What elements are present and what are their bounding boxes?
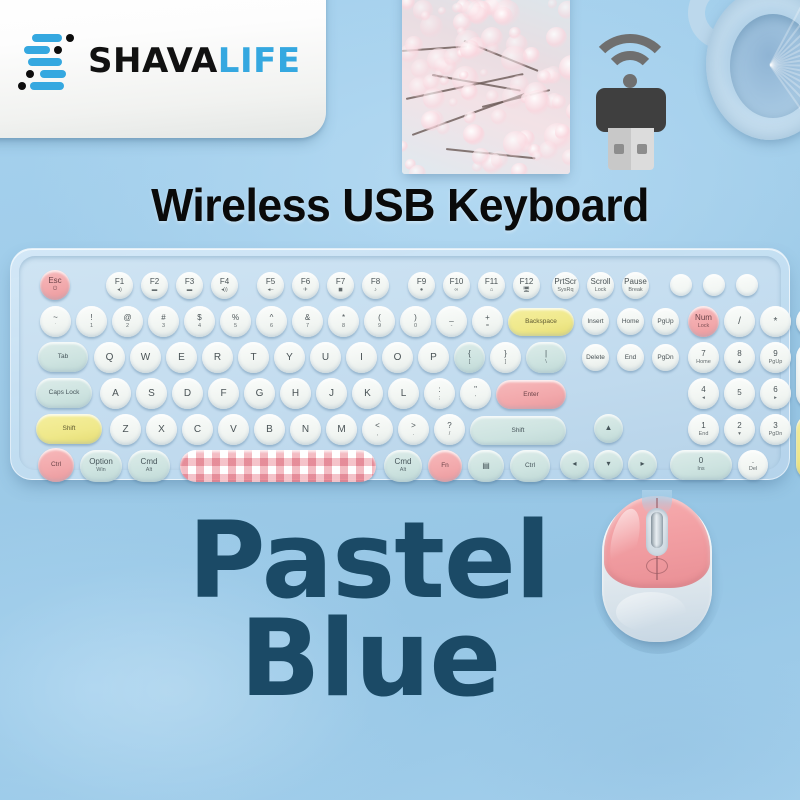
- key-label-primary: |: [545, 350, 547, 359]
- spacebar[interactable]: [180, 450, 376, 482]
- key-label-primary: #: [161, 314, 165, 323]
- key-label-primary: F12: [520, 278, 534, 287]
- key-blank[interactable]: *: [760, 306, 791, 337]
- key-prtscr[interactable]: PrtScrSysRq: [552, 272, 579, 299]
- key-label-primary: Cmd: [395, 458, 412, 467]
- blossom: [558, 1, 570, 20]
- key-label-secondary: ✈: [303, 287, 308, 293]
- key-label-secondary: Ins: [697, 466, 704, 472]
- key-b[interactable]: B: [254, 414, 285, 445]
- blossom: [539, 141, 558, 160]
- key-l[interactable]: L: [388, 378, 419, 409]
- key-6[interactable]: 6▸: [760, 378, 791, 409]
- key-blank[interactable]: ▸: [628, 450, 657, 479]
- usb-body: [596, 88, 666, 132]
- key-0[interactable]: 0Ins: [670, 450, 732, 480]
- key-label-secondary: 1: [90, 323, 93, 329]
- key-label-primary: (: [378, 314, 381, 323]
- key-label-secondary: ◂): [117, 287, 122, 293]
- key-label-secondary: Lock: [595, 287, 607, 293]
- blossom: [463, 124, 484, 145]
- key-label-primary: _: [449, 314, 453, 323]
- key-ctrl[interactable]: Ctrl: [38, 448, 74, 482]
- key-label-primary: Delete: [586, 354, 605, 361]
- key-label-primary: <: [375, 422, 380, 431]
- key-label-secondary: ●: [420, 287, 423, 293]
- key-blank[interactable]: ◂: [560, 450, 589, 479]
- key-h[interactable]: H: [280, 378, 311, 409]
- key-f2[interactable]: F2▬: [141, 272, 168, 299]
- key-blank[interactable]: %5: [220, 306, 251, 337]
- key-label-secondary: 8: [342, 323, 345, 329]
- key-label-secondary: 6: [270, 323, 273, 329]
- key-label-primary: Cmd: [141, 458, 158, 467]
- key-label-secondary: 0: [414, 323, 417, 329]
- key-label-primary: Y: [286, 352, 293, 363]
- key-blank[interactable]: &7: [292, 306, 323, 337]
- key-f6[interactable]: F6✈: [292, 272, 319, 299]
- key-label-primary: }: [504, 350, 507, 359]
- key-s[interactable]: S: [136, 378, 167, 409]
- key-9[interactable]: 9PgUp: [760, 342, 791, 373]
- key-label-primary: D: [184, 388, 191, 399]
- key-2[interactable]: 2▾: [724, 414, 755, 445]
- key-label-secondary: 5: [234, 323, 237, 329]
- key-label-primary: C: [194, 424, 201, 435]
- key-f11[interactable]: F11⌂: [478, 272, 505, 299]
- key-label-primary: Pause: [624, 278, 647, 287]
- key-label-primary: 5: [737, 389, 741, 398]
- key-label-primary: F5: [266, 278, 275, 287]
- key-label-primary: F8: [371, 278, 380, 287]
- shavalife-bars-logo: [18, 32, 74, 90]
- key-label-secondary: 🖥: [523, 287, 530, 293]
- key-label-primary: Backspace: [525, 318, 557, 325]
- key-cmd[interactable]: CmdAlt: [128, 450, 170, 482]
- logo-dot-4: [26, 70, 34, 78]
- blossom: [552, 95, 566, 109]
- key-label-primary: PgUp: [657, 318, 673, 325]
- blossom: [452, 3, 462, 13]
- key-label-secondary: ▸: [774, 395, 777, 401]
- blossom: [409, 165, 426, 174]
- key-label-secondary: 3: [162, 323, 165, 329]
- key-label-secondary: /: [449, 431, 451, 437]
- key-label-primary: U: [322, 352, 329, 363]
- brand-logo: SHAVALIFE: [18, 32, 301, 90]
- key-enter[interactable]: Enter: [496, 380, 566, 409]
- key-label-primary: M: [337, 424, 345, 435]
- key-label-secondary: SysRq: [557, 287, 573, 293]
- key-blank[interactable]: }]: [490, 342, 521, 373]
- key-d[interactable]: D: [172, 378, 203, 409]
- key-label-primary: End: [625, 354, 637, 361]
- key-pgdn[interactable]: PgDn: [652, 344, 679, 371]
- blossom: [555, 124, 570, 140]
- key-label-primary: ▲: [605, 424, 613, 433]
- usb-pin-right: [637, 144, 647, 154]
- key-label-primary: F2: [150, 278, 159, 287]
- key-label-secondary: ;: [439, 395, 441, 401]
- key-v[interactable]: V: [218, 414, 249, 445]
- key-label-primary: L: [401, 388, 407, 399]
- key-f3[interactable]: F3▬: [176, 272, 203, 299]
- key-blank[interactable]: ^6: [256, 306, 287, 337]
- key-label-primary: H: [292, 388, 299, 399]
- key-label-primary: F4: [220, 278, 229, 287]
- key-1[interactable]: 1End: [688, 414, 719, 445]
- key-label-secondary: ◂: [702, 395, 705, 401]
- key-blank[interactable]: @2: [112, 306, 143, 337]
- key-blank[interactable]: [670, 274, 692, 296]
- key-y[interactable]: Y: [274, 342, 305, 373]
- key-label-secondary: .: [413, 431, 415, 437]
- key-label-secondary: Win: [96, 467, 105, 473]
- key-label-secondary: =: [486, 323, 489, 329]
- key-label-primary: PgDn: [657, 354, 673, 361]
- key-blank[interactable]: ▲: [594, 414, 623, 443]
- numpad-plus[interactable]: +: [796, 342, 800, 409]
- key-4[interactable]: 4◂: [688, 378, 719, 409]
- key-label-primary: .: [752, 457, 754, 466]
- key-blank[interactable]: .Del: [738, 450, 768, 480]
- key-label-primary: Tab: [58, 353, 68, 360]
- blossom: [464, 112, 476, 124]
- logo-bar-5: [30, 82, 64, 90]
- key-label-primary: ◂: [572, 460, 576, 469]
- key-blank[interactable]: )0: [400, 306, 431, 337]
- key-ctrl[interactable]: Ctrl: [510, 450, 550, 482]
- brand-name-part1: SHAVA: [88, 41, 218, 81]
- blossom: [501, 46, 528, 73]
- key-label-primary: B: [266, 424, 273, 435]
- key-label-primary: V: [230, 424, 237, 435]
- key-z[interactable]: Z: [110, 414, 141, 445]
- blossom: [503, 131, 529, 157]
- blossom: [562, 149, 570, 166]
- key-label-primary: Fn: [441, 462, 449, 469]
- key-label-secondary: PgDn: [769, 431, 783, 437]
- key-label-primary: 7: [701, 350, 705, 359]
- key-x[interactable]: X: [146, 414, 177, 445]
- keyboard-keys: Esc⏻F1◂)F2▬F3▬F4◂))F5◂–F6✈F7◼F8♪F9●F10∞F…: [10, 248, 790, 480]
- key-label-secondary: ▬: [152, 287, 158, 293]
- key-7[interactable]: 7Home: [688, 342, 719, 373]
- key-label-primary: G: [256, 388, 264, 399]
- key-label-secondary: ◂–: [268, 287, 274, 293]
- blossom: [546, 27, 567, 48]
- color-label-line1: Pastel: [0, 512, 800, 610]
- key-label-primary: F10: [450, 278, 464, 287]
- key-label-primary: F1: [115, 278, 124, 287]
- key-t[interactable]: T: [238, 342, 269, 373]
- key-label-primary: P: [430, 352, 437, 363]
- key-f1[interactable]: F1◂): [106, 272, 133, 299]
- key-label-secondary: Del: [749, 466, 757, 472]
- key-label-primary: ?: [447, 422, 451, 431]
- key-label-secondary: ⏻: [53, 286, 57, 292]
- key-a[interactable]: A: [100, 378, 131, 409]
- key-shift[interactable]: Shift: [470, 416, 566, 445]
- key-g[interactable]: G: [244, 378, 275, 409]
- key-label-primary: *: [774, 316, 778, 327]
- key-label-primary: F9: [417, 278, 426, 287]
- key-blank[interactable]: $4: [184, 306, 215, 337]
- key-f[interactable]: F: [208, 378, 239, 409]
- key-blank[interactable]: *8: [328, 306, 359, 337]
- key-label-primary: 9: [773, 350, 777, 359]
- key-label-primary: >: [411, 422, 416, 431]
- key-f7[interactable]: F7◼: [327, 272, 354, 299]
- key-5[interactable]: 5: [724, 378, 755, 409]
- key-label-primary: Scroll: [590, 278, 610, 287]
- key-label-primary: A: [112, 388, 119, 399]
- key-label-primary: F11: [485, 278, 498, 287]
- key-label-primary: ): [414, 314, 417, 323]
- key-blank[interactable]: +=: [472, 306, 503, 337]
- key-f9[interactable]: F9●: [408, 272, 435, 299]
- key-label-primary: ▤: [482, 462, 490, 471]
- key-label-secondary: -: [451, 323, 453, 329]
- key-label-secondary: ∞: [455, 287, 459, 293]
- key-blank[interactable]: "': [460, 378, 491, 409]
- key-label-primary: Option: [89, 458, 113, 467]
- key-label-primary: F7: [336, 278, 345, 287]
- page-title: Wireless USB Keyboard: [12, 178, 788, 232]
- key-blank[interactable]: !1: [76, 306, 107, 337]
- key-end[interactable]: End: [617, 344, 644, 371]
- key-tab[interactable]: Tab: [38, 342, 88, 372]
- blossom: [421, 111, 441, 131]
- key-blank[interactable]: [703, 274, 725, 296]
- key-c[interactable]: C: [182, 414, 213, 445]
- usb-metal-connector: [608, 128, 654, 170]
- key-label-secondary: Lock: [698, 323, 710, 329]
- key-num[interactable]: NumLock: [688, 306, 719, 337]
- key-q[interactable]: Q: [94, 342, 125, 373]
- logo-dot-5: [18, 82, 26, 90]
- key-label-secondary: Alt: [146, 467, 152, 473]
- key-blank[interactable]: _-: [436, 306, 467, 337]
- key-blank[interactable]: ▤: [468, 450, 504, 482]
- key-f12[interactable]: F12🖥: [513, 272, 540, 299]
- logo-bar-4: [40, 70, 66, 78]
- key-shift[interactable]: Shift: [36, 414, 102, 444]
- key-label-primary: X: [158, 424, 165, 435]
- key-label-primary: W: [141, 352, 150, 363]
- blossom: [486, 90, 499, 103]
- key-label-primary: :: [438, 386, 440, 395]
- key-label-primary: J: [329, 388, 334, 399]
- key-pause[interactable]: PauseBreak: [622, 272, 649, 299]
- key-label-secondary: ⌂: [490, 287, 493, 293]
- key-pgup[interactable]: PgUp: [652, 308, 679, 335]
- key-label-secondary: 4: [198, 323, 201, 329]
- key-blank[interactable]: |\: [526, 342, 566, 373]
- color-variant-label: Pastel Blue: [0, 512, 800, 707]
- key-w[interactable]: W: [130, 342, 161, 373]
- blossom: [494, 7, 513, 26]
- key-label-primary: $: [197, 314, 201, 323]
- key-f4[interactable]: F4◂)): [211, 272, 238, 299]
- key-n[interactable]: N: [290, 414, 321, 445]
- key-k[interactable]: K: [352, 378, 383, 409]
- key-label-secondary: ◂)): [221, 287, 227, 293]
- key-label-primary: 2: [737, 422, 741, 431]
- key-u[interactable]: U: [310, 342, 341, 373]
- key-blank[interactable]: /: [724, 306, 755, 337]
- key-label-secondary: PgUp: [769, 359, 783, 365]
- key-label-primary: F: [220, 388, 226, 399]
- key-label-primary: {: [468, 350, 471, 359]
- key-label-primary: T: [250, 352, 256, 363]
- wireless-keyboard: Esc⏻F1◂)F2▬F3▬F4◂))F5◂–F6✈F7◼F8♪F9●F10∞F…: [10, 248, 790, 480]
- key-label-primary: 4: [701, 386, 705, 395]
- key-label-secondary: ♪: [374, 287, 377, 293]
- blossom: [440, 76, 449, 85]
- key-label-primary: 8: [737, 350, 741, 359]
- cherry-blossom-photo-card: [402, 0, 570, 174]
- key-label-primary: @: [123, 314, 131, 323]
- blossom: [548, 0, 558, 9]
- key-label-primary: %: [232, 314, 239, 323]
- key-label-primary: Ctrl: [525, 462, 535, 469]
- key-label-primary: Home: [622, 318, 639, 325]
- key-label-secondary: 2: [126, 323, 129, 329]
- key-label-primary: /: [738, 316, 741, 327]
- key-label-secondary: ▲: [737, 359, 742, 365]
- blossom: [423, 88, 444, 109]
- key-label-primary: F3: [185, 278, 194, 287]
- key-esc[interactable]: Esc⏻: [40, 270, 70, 300]
- key-label-primary: F6: [301, 278, 310, 287]
- key-p[interactable]: P: [418, 342, 449, 373]
- usb-pin-left: [614, 144, 624, 154]
- key-cmd[interactable]: CmdAlt: [384, 450, 422, 482]
- key-label-primary: Shift: [62, 425, 75, 432]
- key-label-primary: I: [360, 352, 363, 363]
- key-blank[interactable]: >.: [398, 414, 429, 445]
- blossom: [449, 98, 457, 106]
- key-j[interactable]: J: [316, 378, 347, 409]
- key-fn[interactable]: Fn: [428, 450, 462, 482]
- key-blank[interactable]: :;: [424, 378, 455, 409]
- key-label-secondary: \: [545, 359, 547, 365]
- logo-dot-1: [66, 34, 74, 42]
- key-label-secondary: Alt: [400, 467, 406, 473]
- product-banner: SHAVALIFE Wireless USB Keyboard Esc⏻F1◂)…: [0, 0, 800, 800]
- key-scroll[interactable]: ScrollLock: [587, 272, 614, 299]
- key-label-primary: Num: [695, 314, 712, 323]
- key-label-primary: *: [342, 314, 345, 323]
- key-home[interactable]: Home: [617, 308, 644, 335]
- key-e[interactable]: E: [166, 342, 197, 373]
- blossom: [461, 84, 478, 101]
- key-blank[interactable]: [736, 274, 758, 296]
- key-label-primary: O: [394, 352, 402, 363]
- key-m[interactable]: M: [326, 414, 357, 445]
- key-blank[interactable]: (9: [364, 306, 395, 337]
- blossom: [511, 163, 528, 174]
- key-f8[interactable]: F8♪: [362, 272, 389, 299]
- key-option[interactable]: OptionWin: [80, 450, 122, 482]
- blossom: [537, 70, 551, 84]
- key-label-primary: 3: [773, 422, 777, 431]
- key-label-primary: Ctrl: [51, 461, 61, 468]
- blossom: [405, 36, 423, 54]
- wifi-dot-icon: [623, 74, 637, 88]
- key-label-primary: E: [178, 352, 185, 363]
- key-label-secondary: ▬: [187, 287, 193, 293]
- key-label-primary: ^: [270, 314, 274, 323]
- key-delete[interactable]: Delete: [582, 344, 609, 371]
- numpad-enter[interactable]: Enter: [796, 414, 800, 480]
- logo-bar-3: [28, 58, 62, 66]
- key-blank[interactable]: ?/: [434, 414, 465, 445]
- key-label-secondary: [: [469, 359, 471, 365]
- key-label-primary: N: [302, 424, 309, 435]
- key-label-primary: ▾: [606, 460, 610, 469]
- key-backspace[interactable]: Backspace: [508, 308, 574, 336]
- key-label-secondary: `: [55, 323, 57, 329]
- key-label-secondary: Break: [628, 287, 642, 293]
- brand-name-part2: LIFE: [218, 41, 301, 81]
- key-caps-lock[interactable]: Caps Lock: [36, 378, 92, 408]
- key-f5[interactable]: F5◂–: [257, 272, 284, 299]
- key-label-secondary: 7: [306, 323, 309, 329]
- key-label-primary: 0: [699, 457, 703, 466]
- logo-bar-2: [24, 46, 50, 54]
- key-label-secondary: ,: [377, 431, 379, 437]
- blossom: [509, 27, 521, 39]
- blossom: [459, 71, 468, 80]
- blue-ceramic-mug: [690, 0, 800, 147]
- key-8[interactable]: 8▲: [724, 342, 755, 373]
- key-label-secondary: 9: [378, 323, 381, 329]
- key-label-primary: Caps Lock: [49, 389, 80, 396]
- key-f10[interactable]: F10∞: [443, 272, 470, 299]
- key-blank[interactable]: #3: [148, 306, 179, 337]
- key-3[interactable]: 3PgDn: [760, 414, 791, 445]
- key-blank[interactable]: {[: [454, 342, 485, 373]
- blossom: [491, 151, 508, 168]
- key-blank[interactable]: ▾: [594, 450, 623, 479]
- key-label-primary: K: [364, 388, 371, 399]
- key-label-primary: Q: [106, 352, 114, 363]
- key-label-primary: ~: [53, 314, 58, 323]
- key-label-primary: Z: [122, 424, 128, 435]
- key-label-primary: Shift: [511, 427, 524, 434]
- key-i[interactable]: I: [346, 342, 377, 373]
- blossom: [525, 90, 550, 115]
- key-blank[interactable]: <,: [362, 414, 393, 445]
- key-label-primary: 6: [773, 386, 777, 395]
- color-label-line2: Blue: [0, 610, 800, 708]
- usb-wireless-receiver-icon: [576, 30, 684, 170]
- key-label-primary: PrtScr: [554, 278, 576, 287]
- key-label-primary: ": [474, 386, 477, 395]
- key-blank[interactable]: ~`: [40, 306, 71, 337]
- key-label-secondary: ◼: [338, 287, 343, 293]
- key-r[interactable]: R: [202, 342, 233, 373]
- logo-bar-1: [32, 34, 62, 42]
- key-label-primary: Insert: [587, 318, 603, 325]
- key-insert[interactable]: Insert: [582, 308, 609, 335]
- key-label-secondary: ]: [505, 359, 507, 365]
- key-label-secondary: ': [475, 395, 476, 401]
- brand-logo-text: SHAVALIFE: [88, 44, 301, 78]
- key-o[interactable]: O: [382, 342, 413, 373]
